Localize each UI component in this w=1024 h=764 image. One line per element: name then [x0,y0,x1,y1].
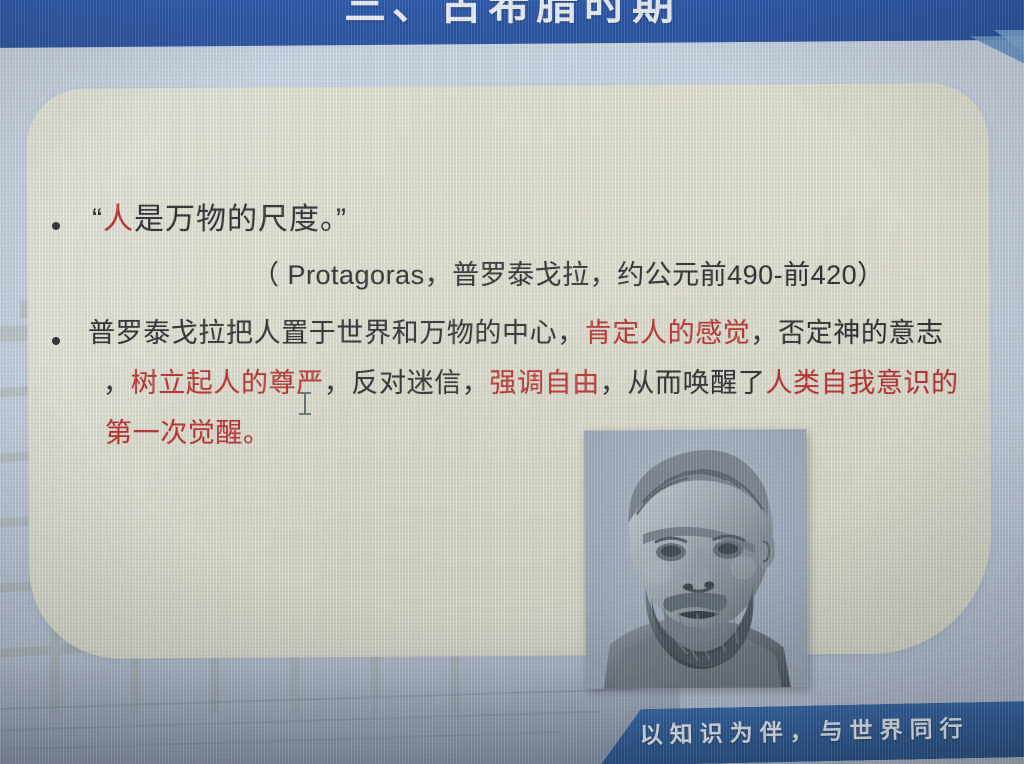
bullet-marker-1 [52,222,60,230]
body-line-2-highlight-2: 强调自由 [489,368,599,398]
footer-banner-text: 以知识为伴，与世界同行 [639,709,970,750]
slide-text-layer: “人是万物的尺度。” （ Protagoras，普罗泰戈拉，约公元前490-前4… [0,0,1024,764]
body-line-1: 普罗泰戈拉把人置于世界和万物的中心，肯定人的感觉，否定神的意志 [88,320,944,347]
body-line-1-part-a: 普罗泰戈拉把人置于世界和万物的中心， [88,318,585,348]
attribution-line: （ Protagoras，普罗泰戈拉，约公元前490-前420） [252,262,885,289]
ibeam-bottom-cap [299,413,311,415]
quote-close-mark: ” [336,203,347,236]
body-line-1-highlight: 肯定人的感觉 [585,318,751,348]
quote-open-mark: “ [92,203,103,236]
body-line-1-part-b: ，否定神的意志 [750,318,943,348]
body-line-2-part-b: ，反对迷信， [324,368,490,398]
bust-illustration [584,429,808,689]
ibeam-stem [304,393,306,414]
quote-line: “人是万物的尺度。” [92,205,347,235]
body-line-2: ，树立起人的尊严，反对迷信，强调自由，从而唤醒了人类自我意识的 [103,370,959,397]
bullet-marker-2 [52,337,60,345]
body-line-2-part-a: ， [103,368,131,398]
philosopher-bust-image [584,429,808,689]
text-cursor-icon [299,390,311,416]
quote-rest: 是万物的尺度。 [134,203,336,236]
photographed-slide-screen: 三、古希腊时期 [0,0,1024,764]
body-line-3-highlight: 第一次觉醒。 [105,420,271,447]
body-line-2-highlight-1: 树立起人的尊严 [131,368,324,398]
body-line-2-highlight-3: 人类自我意识的 [765,368,958,398]
body-line-2-part-c: ，从而唤醒了 [600,368,766,398]
quote-highlight-word: 人 [103,203,134,236]
